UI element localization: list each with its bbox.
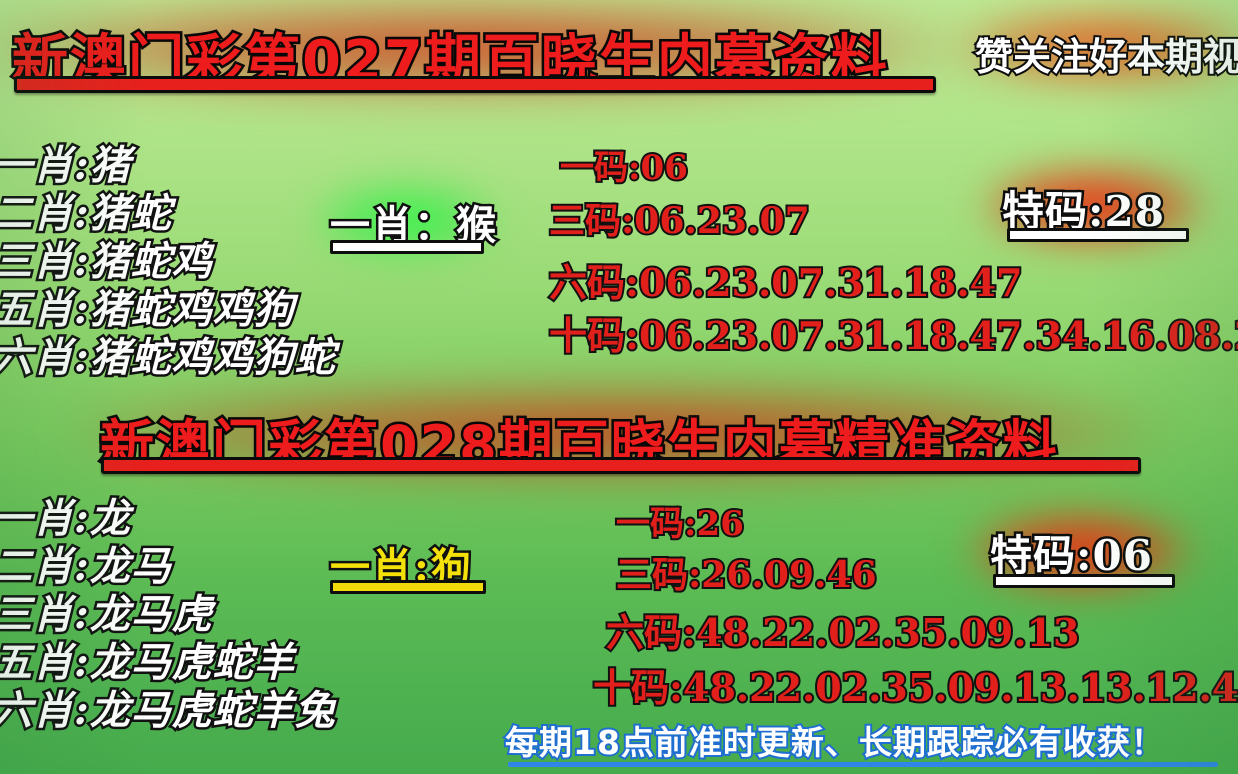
footer-notice: 每期18点前准时更新、长期跟踪必有收获！ (505, 716, 1165, 764)
section-1-zodiac-line-6: 六肖:猪蛇鸡鸡狗蛇 (0, 325, 336, 383)
section-2-title-underline (101, 457, 1141, 474)
section-1-title-underline (14, 76, 936, 93)
footer-underline (508, 762, 1218, 767)
section-2-pick-underline (330, 580, 486, 594)
section-2-code-line-10: 十码:48.22.02.35.09.13.13.12.46.26.03 (593, 657, 1238, 712)
section-1-code-line-6: 六码:06.23.07.31.18.47 (549, 252, 1022, 307)
section-2-code-line-3: 三码:26.09.46 (616, 546, 877, 598)
poster-canvas: 赞关注好本期视频 新澳门彩第027期百晓生内幕资料 一肖:猪 二肖:猪蛇 三肖:… (0, 0, 1238, 774)
section-2-code-line-6: 六码:48.22.02.35.09.13 (606, 602, 1079, 657)
section-2-zodiac-line-6: 六肖:龙马虎蛇羊兔 (0, 678, 336, 736)
section-1-pick-underline (330, 240, 484, 254)
section-1-code-line-1: 一码:06 (560, 140, 688, 189)
promo-label: 赞关注好本期视频 (975, 26, 1238, 81)
section-1-special-underline (1007, 228, 1189, 242)
section-1-code-line-3: 三码:06.23.07 (549, 192, 810, 244)
section-2-code-line-1: 一码:26 (616, 496, 744, 545)
section-2-special-underline (993, 574, 1175, 588)
section-1-code-line-10: 十码:06.23.07.31.18.47.34.16.08.21 (549, 305, 1238, 360)
